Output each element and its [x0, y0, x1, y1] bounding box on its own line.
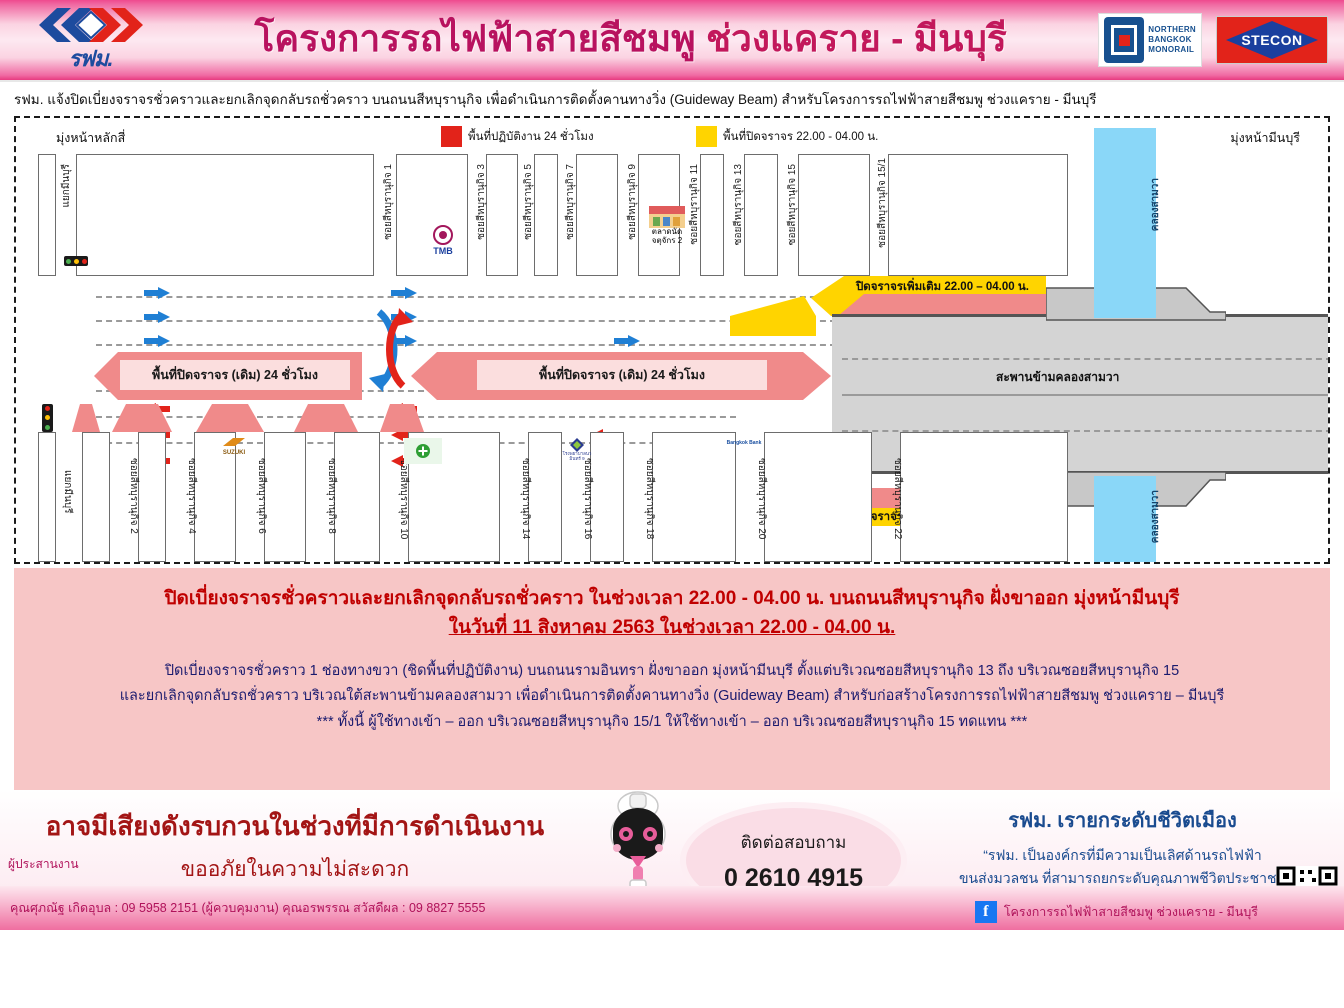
block-top-3 — [486, 154, 518, 276]
page-title-part1: โครงการรถไฟฟ้าสายสีชมพู — [254, 18, 695, 59]
closure-band-right: พื้นที่ปิดจราจร (เดิม) 24 ชั่วโมง — [411, 348, 831, 404]
nbm-line1: NORTHERN — [1148, 25, 1196, 35]
block-bottom-9 — [652, 432, 736, 562]
soi-bottom-label-2: ซอยสีหบุรานุกิจ 4 — [186, 458, 196, 534]
bridge-label: สะพานข้ามคลองสามวา — [996, 368, 1119, 387]
legend-swatch-yellow — [696, 126, 717, 147]
bridge-lane-divider-1 — [842, 358, 1330, 360]
block-top-1 — [76, 154, 374, 276]
nbm-logo-text: NORTHERN BANGKOK MONORAIL — [1148, 25, 1196, 55]
partner-logos: NORTHERN BANGKOK MONORAIL STECON — [1098, 13, 1328, 67]
direction-label-right: มุ่งหน้ามีนบุรี — [1230, 128, 1300, 148]
block-top-8 — [744, 154, 778, 276]
northern-bangkok-monorail-logo: NORTHERN BANGKOK MONORAIL — [1098, 13, 1202, 67]
noise-warning-line2: ขออภัยในความไม่สะดวก — [0, 853, 590, 886]
arrow-outbound-2 — [144, 310, 170, 328]
stecon-logo: STECON — [1216, 16, 1328, 64]
canal-bottom-label: คลองสามวา — [1148, 490, 1163, 543]
vision-line1: “รฟม. เป็นองค์กรที่มีความเป็นเลิศด้านรถไ… — [901, 844, 1344, 867]
block-bottom-8 — [590, 432, 624, 562]
closure-band-left-label: พื้นที่ปิดจราจร (เดิม) 24 ชั่วโมง — [120, 360, 350, 390]
block-top-4 — [534, 154, 558, 276]
notice-headline-2: ในวันที่ 11 สิงหาคม 2563 ในช่วงเวลา 22.0… — [24, 613, 1320, 642]
direction-label-left: มุ่งหน้าหลักสี่ — [56, 128, 125, 148]
canal-top — [1094, 128, 1156, 318]
page-footer: อาจมีเสียงดังรบกวนในช่วงที่มีการดำเนินงา… — [0, 790, 1344, 930]
poi-bangkok-bank: Bangkok Bank — [716, 440, 772, 446]
legend-label-work-area: พื้นที่ปฏิบัติงาน 24 ชั่วโมง — [468, 128, 594, 146]
block-top-2 — [396, 154, 468, 276]
block-bottom-10 — [764, 432, 872, 562]
nbm-line2: BANGKOK — [1148, 35, 1196, 45]
stecon-diamond-icon: STECON — [1226, 21, 1318, 59]
coordinator-contacts: คุณศุภณัฐ เกิดอุบล : 09 5958 2151 (ผู้คว… — [0, 898, 485, 918]
notice-body-2: และยกเลิกจุดกลับรถชั่วคราว บริเวณใต้สะพา… — [24, 684, 1320, 709]
soi-bottom-label-10: ซอยสีหบุรานุกิจ 22 — [892, 458, 902, 539]
poi-bangkok-bank-label: Bangkok Bank — [727, 440, 762, 446]
notice-panel: ปิดเบี่ยงจราจรชั่วคราวและยกเลิกจุดกลับรถ… — [14, 568, 1330, 790]
stecon-logo-text: STECON — [1241, 32, 1302, 48]
traffic-diagram: มุ่งหน้าหลักสี่ มุ่งหน้ามีนบุรี พื้นที่ป… — [14, 116, 1330, 564]
yellow-zone-top-label: ปิดจราจรเพิ่มเติม 22.00 – 04.00 น. — [856, 278, 1029, 296]
traffic-light-top-icon — [64, 256, 88, 266]
mrta-logo-text: รฟม. — [68, 41, 112, 76]
mrta-logo: รฟม. — [18, 4, 163, 76]
footer-contact-bar: คุณศุภณัฐ เกิดอุบล : 09 5958 2151 (ผู้คว… — [0, 886, 1344, 930]
block-bottom-0 — [38, 432, 56, 562]
soi-bottom-label-7: ซอยสีหบุรานุกิจ 16 — [582, 458, 592, 539]
soi-bottom-label-3: ซอยสีหบุรานุกิจ 6 — [256, 458, 266, 534]
arrow-outbound-1 — [144, 286, 170, 304]
coordinator-label: ผู้ประสานงาน — [8, 855, 79, 874]
facebook-icon[interactable]: f — [975, 901, 997, 923]
block-bottom-2 — [138, 432, 166, 562]
soi-top-label-1: ซอยสีหบุรานุกิจ 1 — [384, 164, 394, 240]
block-top-7 — [700, 154, 724, 276]
notice-body-1: ปิดเบี่ยงจราจรชั่วคราว 1 ช่องทางขวา (ชิด… — [24, 659, 1320, 684]
closure-band-left: พื้นที่ปิดจราจร (เดิม) 24 ชั่วโมง — [94, 348, 362, 404]
poi-suzuki-label: SUZUKI — [223, 450, 245, 456]
page-title: โครงการรถไฟฟ้าสายสีชมพู ช่วงแคราย - มีนบ… — [163, 20, 1098, 61]
poi-suzuki: SUZUKI — [214, 436, 254, 456]
nbm-mark-icon — [1104, 17, 1144, 63]
mrta-chevron-icon — [31, 4, 151, 43]
block-top-0 — [38, 154, 56, 276]
soi-top-label-8: ซอยสีหบุรานุกิจ 15 — [788, 164, 798, 245]
block-top-9 — [798, 154, 870, 276]
noise-warning-line1: อาจมีเสียงดังรบกวนในช่วงที่มีการดำเนินงา… — [0, 806, 590, 847]
block-top-5 — [576, 154, 618, 276]
contact-label: ติดต่อสอบถาม — [741, 829, 847, 856]
soi-bottom-label-0: แยกมีนบุรี — [62, 470, 72, 514]
legend-label-night-closure: พื้นที่ปิดจราจร 22.00 - 04.00 น. — [723, 128, 878, 146]
soi-top-label-7: ซอยสีหบุรานุกิจ 13 — [734, 164, 744, 245]
canal-bottom — [1094, 476, 1156, 562]
facebook-link[interactable]: f โครงการรถไฟฟ้าสายสีชมพู ช่วงแคราย - มี… — [975, 901, 1258, 923]
poi-hospital-label: โรงพยาบาลนวมินทร์ 9 — [562, 452, 592, 461]
soi-top-label-0: แยกมีนบุรี — [62, 164, 72, 208]
soi-bottom-label-9: ซอยสีหบุรานุกิจ 20 — [756, 458, 766, 539]
block-bottom-7 — [528, 432, 562, 562]
page-title-part2: ช่วงแคราย - มีนบุรี — [706, 18, 1007, 59]
soi-bottom-label-8: ซอยสีหบุรานุกิจ 18 — [644, 458, 654, 539]
soi-top-label-9: ซอยสีหบุรานุกิจ 15/1 — [878, 158, 888, 248]
facebook-page-name[interactable]: โครงการรถไฟฟ้าสายสีชมพู ช่วงแคราย - มีนบ… — [1004, 902, 1258, 922]
vision-title: รฟม. เรายกระดับชีวิตเมือง — [901, 804, 1344, 836]
poi-tmb-bank: TMB — [420, 224, 466, 256]
lane-divider-3 — [96, 344, 836, 346]
poi-market-label: ตลาดนัดจตุจักร 2 — [644, 228, 690, 246]
bridge-center-line — [842, 394, 1330, 396]
block-top-10 — [888, 154, 1068, 276]
soi-top-label-2: ซอยสีหบุรานุกิจ 3 — [477, 164, 487, 240]
legend-item-night-closure: พื้นที่ปิดจราจร 22.00 - 04.00 น. — [696, 126, 878, 147]
soi-bottom-label-4: ซอยสีหบุรานุกิจ 8 — [326, 458, 336, 534]
poi-tmb-label: TMB — [433, 246, 453, 256]
nbm-line3: MONORAIL — [1148, 45, 1196, 55]
soi-bottom-label-1: ซอยสีหบุรานุกิจ 2 — [128, 458, 138, 534]
noise-warning: อาจมีเสียงดังรบกวนในช่วงที่มีการดำเนินงา… — [0, 790, 590, 886]
legend-swatch-red — [441, 126, 462, 147]
soi-bottom-label-5: ซอยสีหบุรานุกิจ 10 — [398, 458, 408, 539]
poi-pharmacy-icon — [404, 438, 442, 464]
poi-hospital: โรงพยาบาลนวมินทร์ 9 — [562, 438, 592, 461]
legend-item-work-area: พื้นที่ปฏิบัติงาน 24 ชั่วโมง — [441, 126, 594, 147]
arrow-outbound-4 — [391, 286, 417, 304]
announcement-subtitle: รฟม. แจ้งปิดเบี่ยงจราจรชั่วคราวและยกเลิก… — [0, 82, 1344, 116]
block-bottom-5 — [334, 432, 380, 562]
block-bottom-4 — [264, 432, 306, 562]
block-bottom-11 — [900, 432, 1068, 562]
page-header: รฟม. โครงการรถไฟฟ้าสายสีชมพู ช่วงแคราย -… — [0, 0, 1344, 82]
soi-bottom-label-6: ซอยสีหบุรานุกิจ 14 — [520, 458, 530, 539]
notice-headline-1: ปิดเบี่ยงจราจรชั่วคราวและยกเลิกจุดกลับรถ… — [24, 584, 1320, 613]
soi-top-label-3: ซอยสีหบุรานุกิจ 5 — [524, 164, 534, 240]
soi-top-label-4: ซอยสีหบุรานุกิจ 7 — [566, 164, 576, 240]
closure-band-right-label: พื้นที่ปิดจราจร (เดิม) 24 ชั่วโมง — [477, 360, 767, 390]
soi-top-label-6: ซอยสีหบุรานุกิจ 11 — [690, 164, 700, 245]
block-bottom-1 — [82, 432, 110, 562]
poi-market: ตลาดนัดจตุจักร 2 — [644, 206, 690, 246]
canal-top-label: คลองสามวา — [1148, 178, 1163, 231]
soi-top-label-5: ซอยสีหบุรานุกิจ 9 — [628, 164, 638, 240]
notice-body-3: *** ทั้งนี้ ผู้ใช้ทางเข้า – ออก บริเวณซอ… — [24, 710, 1320, 735]
traffic-light-left-icon — [42, 404, 53, 432]
